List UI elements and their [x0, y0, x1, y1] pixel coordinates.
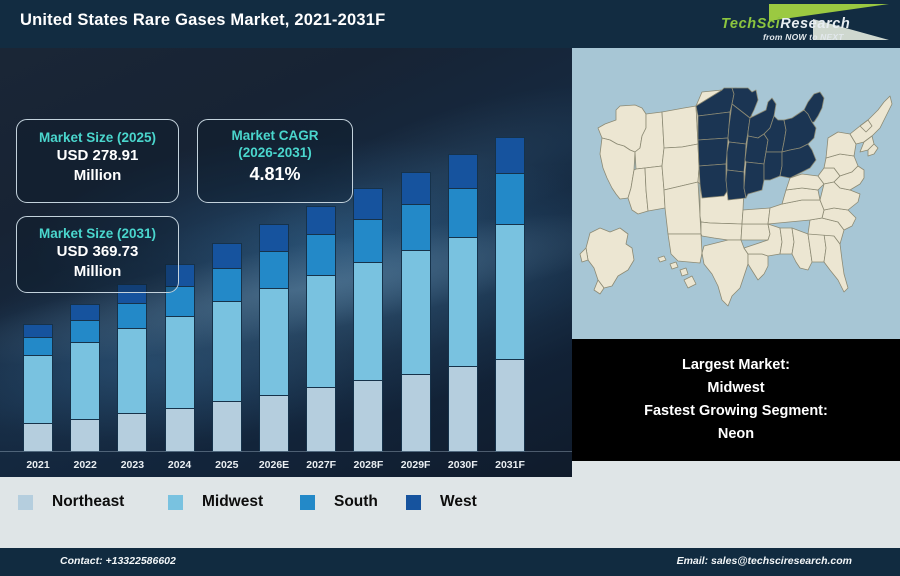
bar-segment-midwest [401, 250, 431, 374]
bar-segment-midwest [353, 262, 383, 380]
market-size-2025-unit: Million [17, 166, 178, 186]
bar-segment-west [448, 154, 478, 188]
bar-segment-northeast [23, 423, 53, 452]
legend-label-midwest: Midwest [202, 493, 263, 511]
bar-segment-south [495, 173, 525, 225]
legend-label-south: South [334, 493, 378, 511]
bar-segment-south [306, 234, 336, 275]
bar-segment-south [448, 188, 478, 237]
legend-swatch-south [300, 495, 315, 510]
bar-segment-northeast [259, 395, 289, 452]
cagr-period: (2026-2031) [198, 144, 352, 161]
bar-segment-west [259, 224, 289, 251]
bar-2026E [259, 224, 289, 452]
bar-segment-south [70, 320, 100, 342]
bar-segment-midwest [495, 224, 525, 359]
bar-segment-midwest [306, 275, 336, 388]
market-size-2031-unit: Million [17, 262, 178, 282]
stat-card-market-cagr: Market CAGR (2026-2031) 4.81% [197, 119, 353, 203]
x-axis-tick-2027F: 2027F [294, 459, 348, 471]
bar-segment-northeast [448, 366, 478, 452]
key-findings-box: Largest Market: Midwest Fastest Growing … [572, 339, 900, 461]
legend-item-west[interactable]: West [406, 493, 477, 511]
bar-segment-west [23, 324, 53, 337]
market-size-2025-value: USD 278.91 [17, 146, 178, 166]
bar-segment-northeast [353, 380, 383, 452]
bar-segment-south [23, 337, 53, 355]
bar-2025 [212, 243, 242, 452]
footer-email: Email: sales@techsciresearch.com [677, 555, 852, 567]
bar-2031F [495, 137, 525, 452]
legend-label-northeast: Northeast [52, 493, 124, 511]
x-axis-tick-2030F: 2030F [436, 459, 490, 471]
header-bar: United States Rare Gases Market, 2021-20… [0, 0, 900, 48]
x-axis-tick-2029F: 2029F [389, 459, 443, 471]
bar-segment-west [401, 172, 431, 204]
bar-segment-west [70, 304, 100, 320]
page-title: United States Rare Gases Market, 2021-20… [20, 11, 385, 30]
x-axis-line [0, 451, 572, 452]
bar-segment-south [212, 268, 242, 301]
cagr-value: 4.81% [198, 161, 352, 187]
bar-2022 [70, 304, 100, 452]
legend-label-west: West [440, 493, 477, 511]
x-axis-tick-2031F: 2031F [483, 459, 537, 471]
bar-segment-west [212, 243, 242, 268]
bar-segment-south [353, 219, 383, 262]
fastest-growing-segment-label: Fastest Growing Segment: [644, 400, 828, 423]
footer-bar: Contact: +13322586602 Email: sales@techs… [0, 548, 900, 576]
logo-tagline: from NOW to NEXT [763, 32, 844, 42]
bar-segment-midwest [448, 237, 478, 366]
bar-segment-south [401, 204, 431, 250]
bar-segment-midwest [70, 342, 100, 419]
bar-segment-northeast [212, 401, 242, 452]
bar-2030F [448, 154, 478, 452]
legend-item-midwest[interactable]: Midwest [168, 493, 263, 511]
bar-segment-midwest [259, 288, 289, 395]
bar-segment-northeast [117, 413, 147, 452]
bar-segment-northeast [165, 408, 195, 452]
bar-segment-northeast [306, 387, 336, 452]
bar-segment-west [306, 206, 336, 235]
bar-segment-west [353, 188, 383, 218]
bar-segment-midwest [117, 328, 147, 413]
stat-card-market-size-2031: Market Size (2031) USD 369.73 Million [16, 216, 179, 293]
bar-2029F [401, 172, 431, 452]
logo-word-techsci: TechSci [721, 16, 780, 32]
market-size-2031-value: USD 369.73 [17, 242, 178, 262]
x-axis-tick-2026E: 2026E [247, 459, 301, 471]
bar-segment-south [117, 303, 147, 329]
largest-market-label: Largest Market: [682, 354, 790, 377]
chart-legend: NortheastMidwestSouthWest [0, 477, 900, 548]
bar-segment-west [495, 137, 525, 173]
bar-2028F [353, 188, 383, 452]
x-axis-tick-2022: 2022 [58, 459, 112, 471]
bar-segment-midwest [165, 316, 195, 408]
bar-2023 [117, 284, 147, 452]
largest-market-value: Midwest [707, 377, 764, 400]
market-size-2025-label: Market Size (2025) [17, 129, 178, 146]
cagr-label: Market CAGR [198, 127, 352, 144]
us-map-panel [572, 48, 900, 339]
legend-swatch-west [406, 495, 421, 510]
bar-segment-midwest [212, 301, 242, 402]
legend-item-northeast[interactable]: Northeast [18, 493, 124, 511]
us-map-svg [572, 48, 900, 339]
legend-item-south[interactable]: South [300, 493, 378, 511]
logo-wordmark: TechSciResearch [721, 16, 850, 32]
footer-contact: Contact: +13322586602 [60, 555, 176, 567]
logo-word-research: Research [780, 16, 850, 32]
techsci-research-logo: TechSciResearch from NOW to NEXT [717, 2, 892, 47]
bar-segment-northeast [70, 419, 100, 452]
bar-2027F [306, 206, 336, 452]
infographic-root: United States Rare Gases Market, 2021-20… [0, 0, 900, 576]
x-axis-tick-2024: 2024 [153, 459, 207, 471]
x-axis-tick-2028F: 2028F [341, 459, 395, 471]
bar-segment-northeast [495, 359, 525, 452]
legend-swatch-midwest [168, 495, 183, 510]
legend-swatch-northeast [18, 495, 33, 510]
market-size-2031-label: Market Size (2031) [17, 225, 178, 242]
x-axis-tick-2025: 2025 [200, 459, 254, 471]
stat-card-market-size-2025: Market Size (2025) USD 278.91 Million [16, 119, 179, 203]
bar-segment-south [259, 251, 289, 288]
bar-2021 [23, 324, 53, 452]
x-axis-tick-2021: 2021 [11, 459, 65, 471]
x-axis-tick-2023: 2023 [105, 459, 159, 471]
chart-panel: 202120222023202420252026E2027F2028F2029F… [0, 48, 572, 477]
bar-segment-midwest [23, 355, 53, 423]
fastest-growing-segment-value: Neon [718, 423, 754, 446]
bar-segment-northeast [401, 374, 431, 452]
